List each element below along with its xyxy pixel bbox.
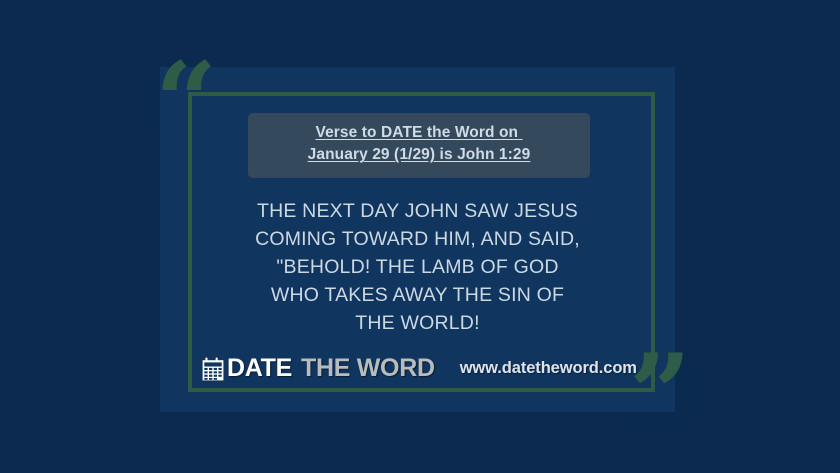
close-quote-icon: ” xyxy=(629,340,689,448)
calendar-icon xyxy=(202,357,224,381)
verse-line: THE WORLD! xyxy=(190,309,645,337)
verse-line: WHO TAKES AWAY THE SIN OF xyxy=(190,281,645,309)
open-quote-icon: “ xyxy=(155,48,215,156)
verse-line: "BEHOLD! THE LAMB OF GOD xyxy=(190,253,645,281)
verse-line: THE NEXT DAY JOHN SAW JESUS xyxy=(190,197,645,225)
brand-name-secondary: THE WORD xyxy=(301,356,435,381)
verse-card: Verse to DATE the Word on January 29 (1/… xyxy=(160,67,675,412)
verse-line: COMING TOWARD HIM, AND SAID, xyxy=(190,225,645,253)
header-line-2: January 29 (1/29) is John 1:29 xyxy=(258,144,580,166)
brand-name-primary: DATE xyxy=(227,356,292,381)
verse-header-badge: Verse to DATE the Word on January 29 (1/… xyxy=(248,113,590,178)
footer-brand-row: DATE THE WORD www.datetheword.com xyxy=(202,356,637,381)
verse-graphic: Verse to DATE the Word on January 29 (1/… xyxy=(0,0,840,473)
header-line-1: Verse to DATE the Word on xyxy=(258,122,580,144)
verse-text: THE NEXT DAY JOHN SAW JESUS COMING TOWAR… xyxy=(190,197,645,337)
card-content: Verse to DATE the Word on January 29 (1/… xyxy=(160,67,675,412)
brand-website-url: www.datetheword.com xyxy=(460,360,637,377)
